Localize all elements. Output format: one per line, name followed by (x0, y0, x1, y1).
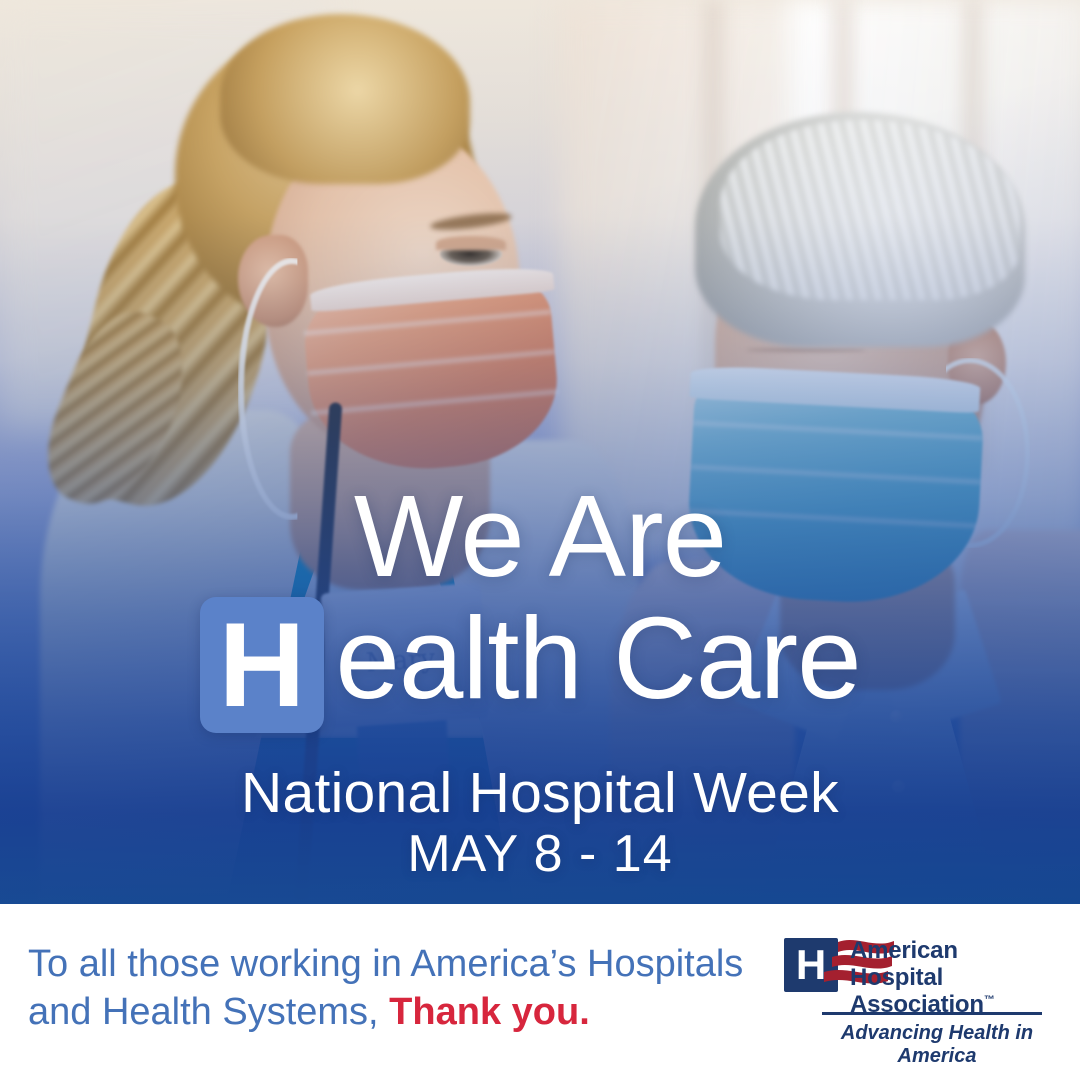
trademark-symbol: ™ (984, 994, 995, 1006)
subtitle-dates: MAY 8 - 14 (0, 824, 1080, 884)
thank-you-message: To all those working in America’s Hospit… (28, 940, 748, 1037)
headline-group: We Are H ealth Care National Hospital We… (0, 0, 1080, 904)
subtitle-event-name: National Hospital Week (0, 760, 1080, 826)
aha-logo[interactable]: H American Hospital Association™ Advanci… (782, 928, 1052, 1054)
aha-org-name: American Hospital Association™ (850, 938, 1052, 1019)
hero-photo: Mary (0, 0, 1080, 904)
aha-tagline: Advancing Health in America (822, 1022, 1052, 1068)
thank-you-emphasis: Thank you. (389, 991, 590, 1033)
footer-bar: To all those working in America’s Hospit… (0, 904, 1080, 1080)
aha-divider-rule (822, 1012, 1042, 1015)
headline-line-1: We Are (0, 478, 1080, 594)
headline-line-2: ealth Care (0, 600, 1080, 716)
poster-canvas: Mary (0, 0, 1080, 1080)
aha-org-line1: American Hospital (850, 938, 1052, 992)
thank-you-message-lead: To all those working in America’s Hospit… (28, 943, 743, 1033)
